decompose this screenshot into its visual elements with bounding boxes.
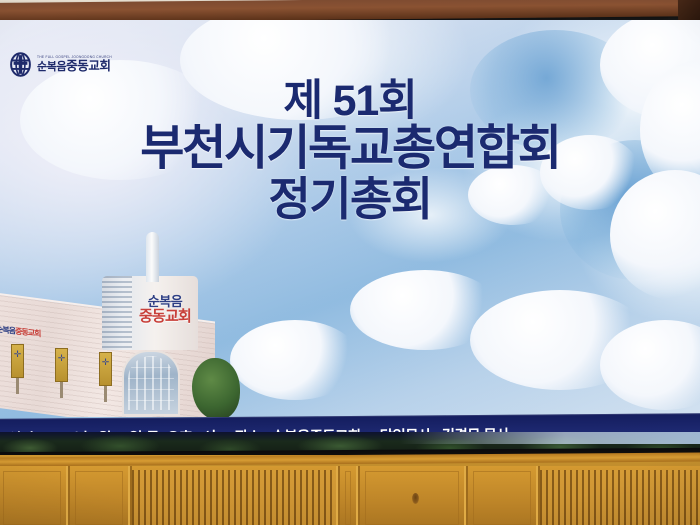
cloud — [600, 320, 700, 410]
cloud — [230, 320, 360, 400]
wall-panel — [466, 466, 538, 525]
church-building-photo: 순복음중동교회 순복음 중동교회 — [0, 220, 244, 417]
logo-name-part1: 순복음 — [37, 61, 66, 73]
wall-panel-slatted — [538, 466, 700, 525]
banner-title: 제 51회 부천시기독교총연합회 정기총회 — [0, 80, 700, 223]
title-line-2: 부천시기독교총연합회 — [0, 124, 700, 175]
building-side-sign-part1: 순복음 — [0, 325, 15, 336]
wall-panel — [358, 466, 466, 525]
logo-name-part2: 중동교회 — [66, 59, 110, 73]
wood-knot — [412, 493, 419, 504]
building-roof-sign: 순복음 중동교회 — [124, 288, 206, 332]
wainscot-top-rail — [0, 453, 700, 467]
wooden-wainscot-wall — [0, 455, 700, 525]
building-spire — [146, 232, 159, 282]
wall-panel — [0, 466, 68, 525]
building-sign-top: 순복음 — [148, 295, 182, 309]
banner-photograph: THE FULL GOSPEL JOONGDONG CHURCH 순복음중동교회… — [0, 0, 700, 525]
wall-panel — [338, 466, 358, 525]
cloud — [350, 270, 500, 350]
foliage-sky-gap — [400, 432, 700, 444]
logo-supra-text: THE FULL GOSPEL JOONGDONG CHURCH — [37, 55, 112, 59]
title-line-1: 제 51회 — [0, 80, 700, 124]
globe-cross-icon — [8, 52, 33, 77]
cross-emblem-post — [55, 348, 68, 382]
cloud — [470, 290, 650, 390]
cross-emblem-post — [99, 352, 112, 386]
building-sign-bottom: 중동교회 — [139, 309, 191, 325]
building-tree — [192, 358, 240, 417]
event-banner: THE FULL GOSPEL JOONGDONG CHURCH 순복음중동교회… — [0, 20, 700, 437]
frame-corner-shadow — [678, 0, 700, 20]
cross-emblem-post — [11, 344, 24, 378]
logo-name: 순복음중동교회 — [37, 60, 112, 73]
wall-panel-slatted — [130, 466, 338, 525]
building-entrance — [122, 350, 180, 416]
title-line-3: 정기총회 — [0, 175, 700, 223]
wall-panel — [68, 466, 130, 525]
church-logo: THE FULL GOSPEL JOONGDONG CHURCH 순복음중동교회 — [8, 52, 112, 77]
building-side-sign-part2: 중동교회 — [15, 327, 41, 339]
